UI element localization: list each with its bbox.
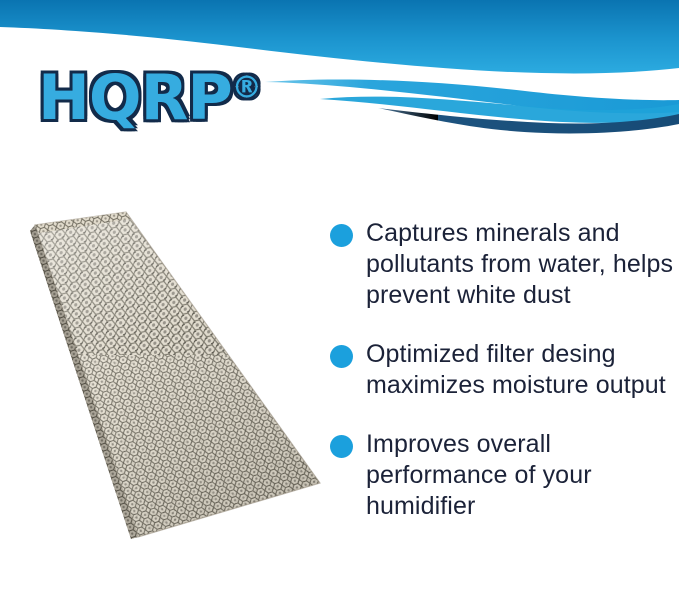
product-feature-banner: HQRP® (0, 0, 679, 593)
hqrp-logo: HQRP® (38, 60, 258, 135)
filter-front-face (8, 195, 330, 550)
bullet-point-icon (330, 435, 353, 458)
registered-trademark-icon: ® (232, 70, 261, 105)
logo-wordmark-text: HQRP (38, 61, 232, 134)
logo-wordmark: HQRP® (38, 60, 258, 135)
feature-item-captures-minerals: Captures minerals and pollutants from wa… (330, 218, 679, 311)
feature-text: Optimized filter desing maximizes moistu… (366, 339, 676, 401)
bullet-point-icon (330, 224, 353, 247)
feature-text: Captures minerals and pollutants from wa… (366, 218, 676, 311)
feature-item-improves-performance: Improves overall performance of your hum… (330, 429, 679, 522)
feature-text: Improves overall performance of your hum… (366, 429, 676, 522)
feature-item-optimized-design: Optimized filter desing maximizes moistu… (330, 339, 679, 401)
feature-list: Captures minerals and pollutants from wa… (330, 218, 679, 550)
bullet-point-icon (330, 345, 353, 368)
product-image-humidifier-filter (8, 195, 330, 550)
